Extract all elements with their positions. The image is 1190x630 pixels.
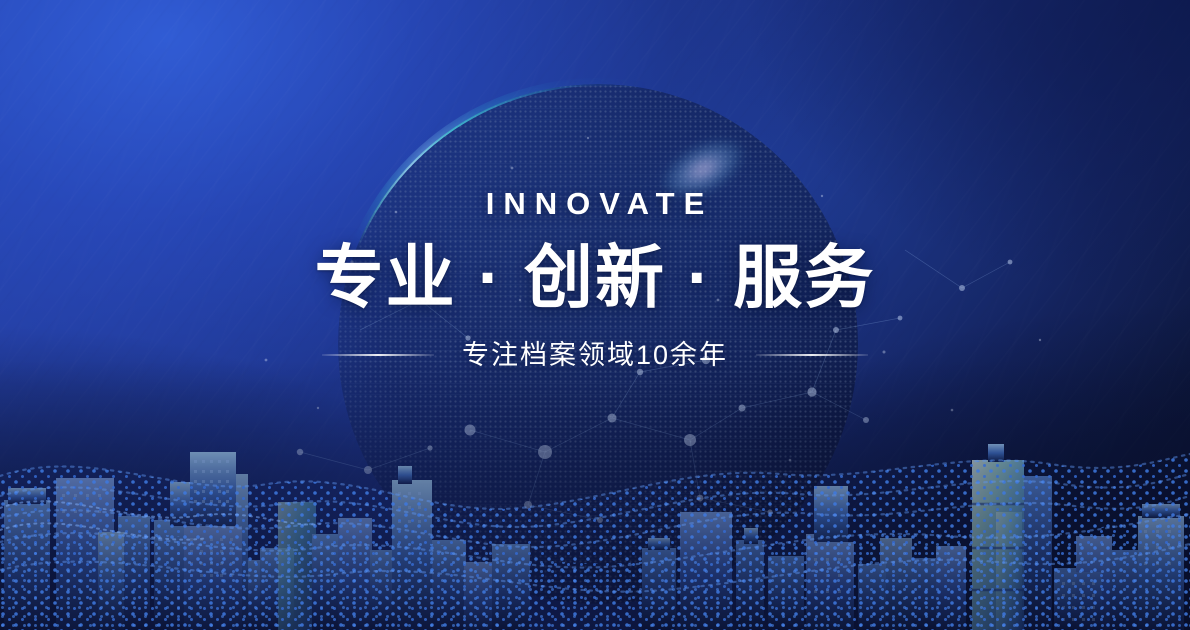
page-title: 专业 · 创新 · 服务 (0, 241, 1190, 316)
subtitle-row: 专注档案领域10余年 (0, 342, 1190, 369)
divider-line-right (756, 354, 868, 356)
subtitle-text: 专注档案领域10余年 (462, 342, 728, 369)
eyebrow-text: INNOVATE (0, 188, 1190, 219)
hero-banner: INNOVATE 专业 · 创新 · 服务 专注档案领域10余年 (0, 0, 1190, 630)
dotted-wave-terrain (0, 380, 1190, 630)
banner-text-block: INNOVATE 专业 · 创新 · 服务 专注档案领域10余年 (0, 188, 1190, 369)
divider-line-left (322, 354, 434, 356)
